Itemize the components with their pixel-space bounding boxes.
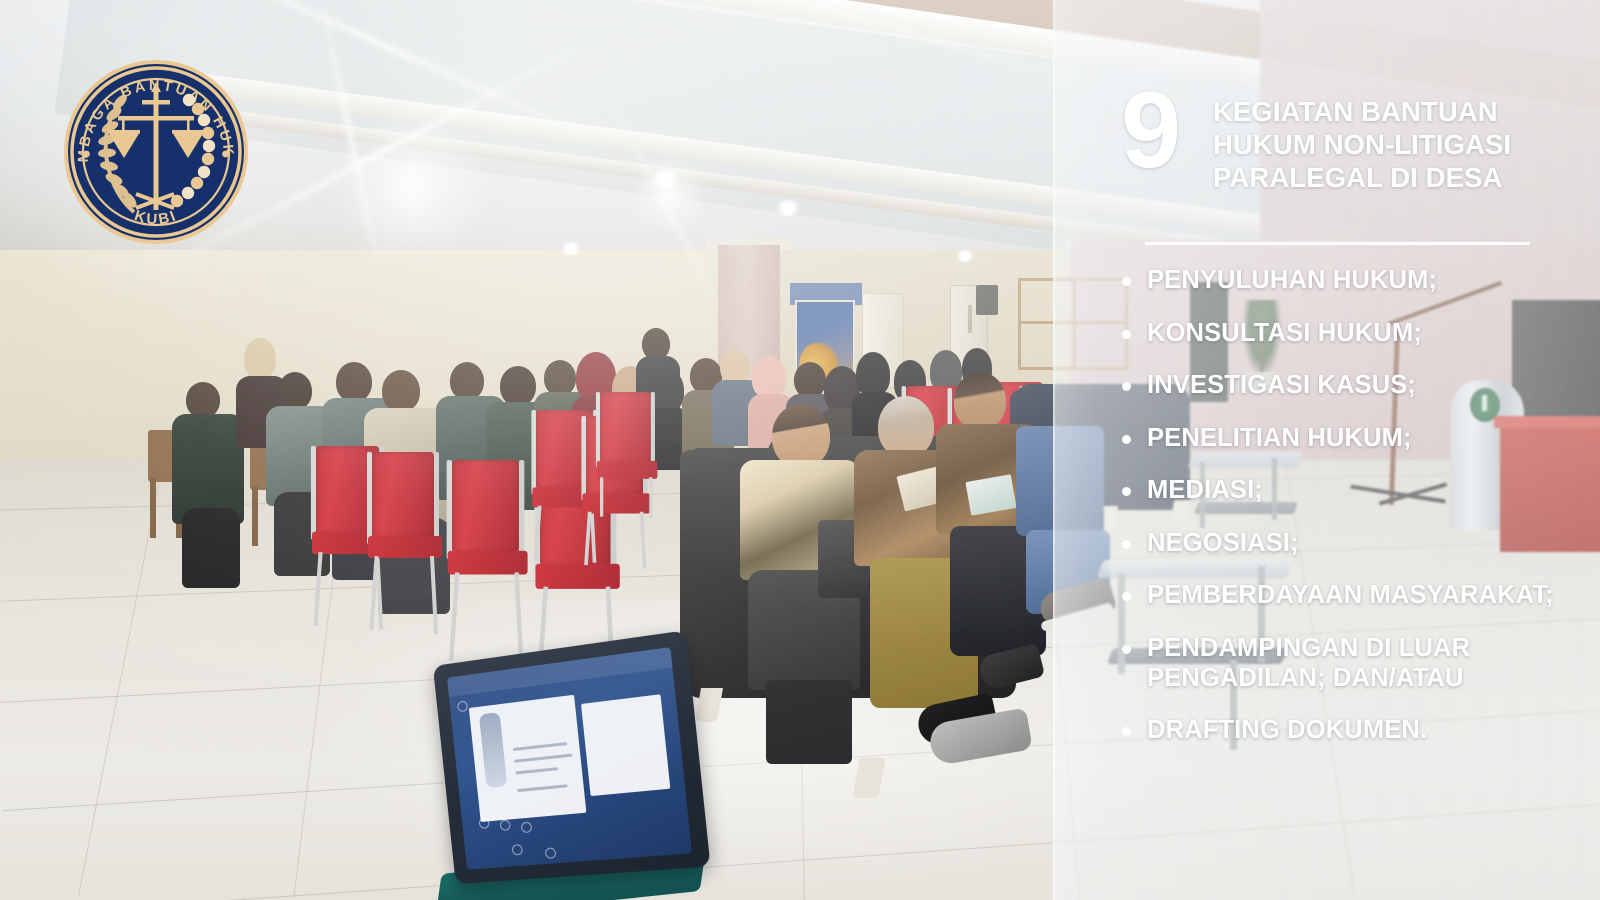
list-item-label: PEMBERDAYAAN MASYARAKAT; — [1147, 581, 1554, 609]
service-list: PENYULUHAN HUKUM; KONSULTASI HUKUM; INVE… — [1075, 266, 1600, 769]
bullet-dot — [1122, 330, 1131, 339]
list-item: NEGOSIASI; — [1075, 529, 1600, 559]
list-item-label: PENYULUHAN HUKUM; — [1147, 266, 1437, 294]
bullet-dot — [1122, 645, 1131, 654]
bullet-dot — [1122, 382, 1131, 391]
list-item: PEMBERDAYAAN MASYARAKAT; — [1075, 581, 1600, 611]
list-item-label: INVESTIGASI KASUS; — [1147, 371, 1416, 399]
list-item: PENDAMPINGAN DI LUAR PENGADILAN; DAN/ATA… — [1075, 634, 1600, 693]
list-item-label: NEGOSIASI; — [1147, 529, 1299, 557]
title-line-2: HUKUM NON-LITIGASI — [1213, 129, 1585, 162]
bullet-dot — [1122, 592, 1131, 601]
list-item-label: PENELITIAN HUKUM; — [1147, 424, 1412, 452]
list-item-label: MEDIASI; — [1147, 476, 1263, 504]
bullet-dot — [1122, 540, 1131, 549]
bullet-dot — [1122, 435, 1131, 444]
title-line-3: PARALEGAL DI DESA — [1213, 162, 1585, 195]
bullet-dot — [1122, 487, 1131, 496]
list-item: KONSULTASI HUKUM; — [1075, 319, 1600, 349]
list-item: DRAFTING DOKUMEN. — [1075, 716, 1600, 746]
list-item: PENYULUHAN HUKUM; — [1075, 266, 1600, 296]
content-panel: 9 KEGIATAN BANTUAN HUKUM NON-LITIGASI PA… — [1053, 0, 1600, 900]
list-item: PENELITIAN HUKUM; — [1075, 424, 1600, 454]
title-divider — [1145, 242, 1530, 245]
section-number: 9 — [1121, 76, 1179, 184]
lbh-kubi-logo: LEMBAGA BANTUAN HUKUM KUBI — [62, 58, 250, 246]
slide-root: LEMBAGA BANTUAN HUKUM KUBI — [0, 0, 1600, 900]
list-item-label: PENDAMPINGAN DI LUAR PENGADILAN; DAN/ATA… — [1147, 634, 1470, 692]
list-item: INVESTIGASI KASUS; — [1075, 371, 1600, 401]
title-line-1: KEGIATAN BANTUAN — [1213, 96, 1585, 129]
bullet-dot — [1122, 277, 1131, 286]
section-title: KEGIATAN BANTUAN HUKUM NON-LITIGASI PARA… — [1213, 96, 1585, 195]
bullet-dot — [1122, 727, 1131, 736]
list-item-label: DRAFTING DOKUMEN. — [1147, 716, 1427, 744]
list-item: MEDIASI; — [1075, 476, 1600, 506]
list-item-label: KONSULTASI HUKUM; — [1147, 319, 1422, 347]
